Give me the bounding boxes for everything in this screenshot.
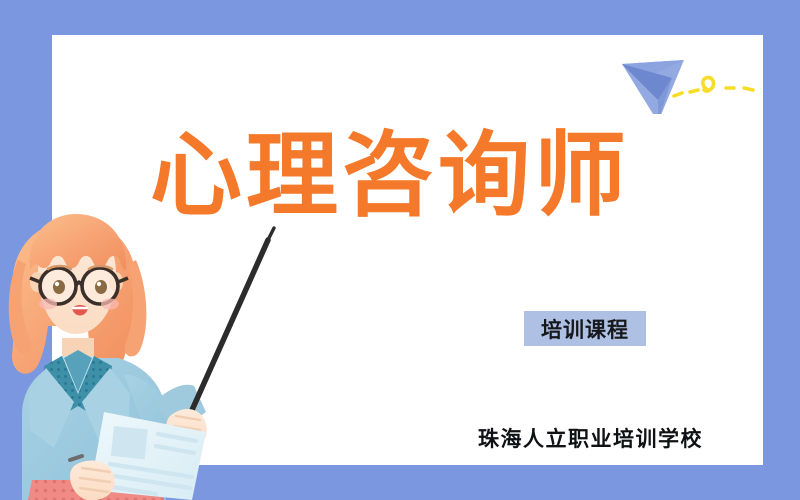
course-badge-label: 培训课程 — [541, 314, 629, 344]
teacher-with-pointer-illustration — [0, 198, 278, 500]
poster-canvas: 心理咨询师 培训课程 珠海人立职业培训学校 — [0, 0, 800, 500]
paper-plane-decoration — [612, 34, 772, 114]
course-badge: 培训课程 — [524, 311, 646, 346]
teacher-illustration — [0, 198, 278, 500]
school-name: 珠海人立职业培训学校 — [478, 423, 703, 453]
paper-plane-icon — [612, 34, 772, 114]
